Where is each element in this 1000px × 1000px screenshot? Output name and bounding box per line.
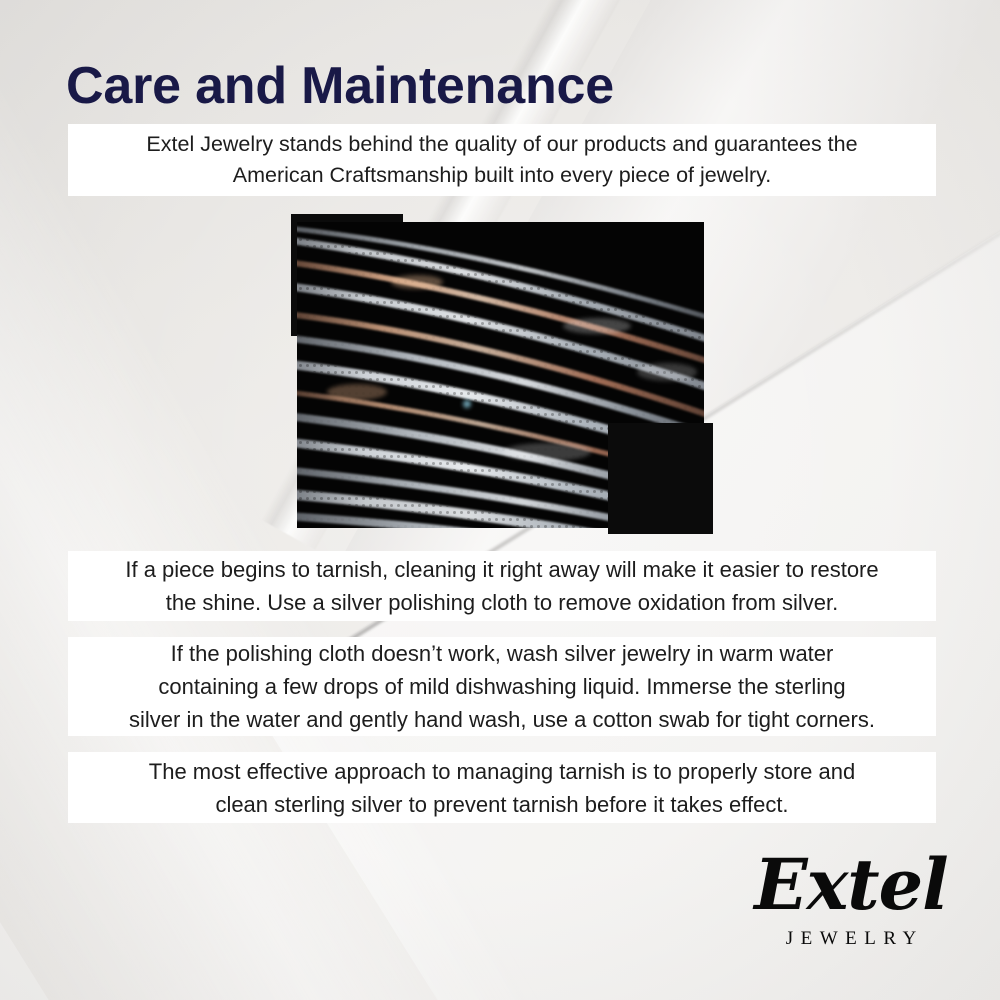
photo-accent-bottom-right-icon bbox=[608, 423, 713, 534]
body-band-washing-instructions: If the polishing cloth doesn’t work, was… bbox=[68, 637, 936, 736]
body-line: The most effective approach to managing … bbox=[149, 755, 855, 788]
body-line: clean sterling silver to prevent tarnish… bbox=[215, 788, 788, 821]
subtitle-line-1: Extel Jewelry stands behind the quality … bbox=[146, 129, 857, 160]
body-line: If the polishing cloth doesn’t work, was… bbox=[171, 637, 834, 670]
subtitle-line-2: American Craftsmanship built into every … bbox=[233, 160, 772, 191]
logo-tagline: JEWELRY bbox=[748, 928, 954, 950]
body-line: silver in the water and gently hand wash… bbox=[129, 703, 875, 736]
extel-jewelry-logo: Extel JEWELRY bbox=[748, 842, 954, 960]
body-band-prevention: The most effective approach to managing … bbox=[68, 752, 936, 823]
body-line: the shine. Use a silver polishing cloth … bbox=[166, 586, 839, 619]
logo-wordmark: Extel bbox=[748, 842, 954, 928]
body-band-tarnish-cleaning: If a piece begins to tarnish, cleaning i… bbox=[68, 551, 936, 621]
subtitle-band: Extel Jewelry stands behind the quality … bbox=[68, 124, 936, 196]
body-line: If a piece begins to tarnish, cleaning i… bbox=[125, 553, 878, 586]
care-and-maintenance-page: Care and Maintenance Extel Jewelry stand… bbox=[0, 0, 1000, 1000]
body-line: containing a few drops of mild dishwashi… bbox=[158, 670, 845, 703]
page-title: Care and Maintenance bbox=[66, 58, 614, 115]
